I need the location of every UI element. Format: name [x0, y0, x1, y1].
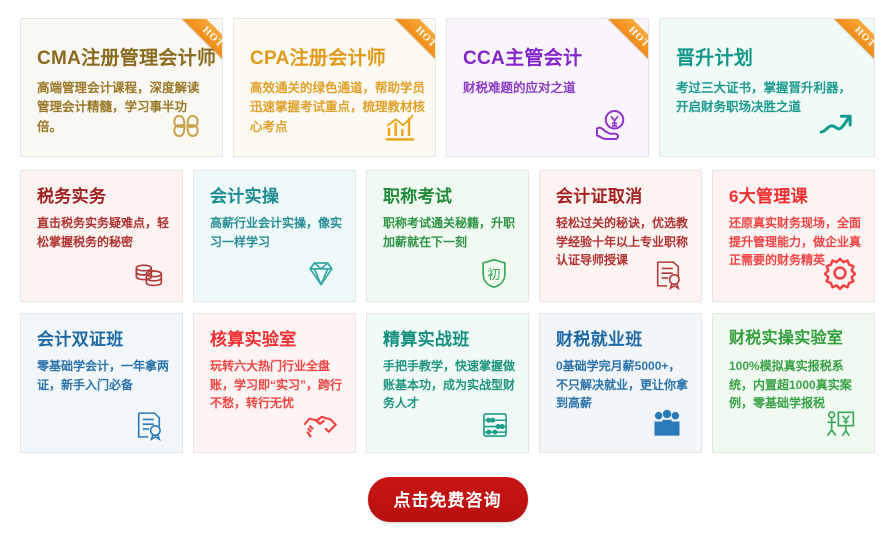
diamond-icon — [295, 247, 341, 293]
course-card-promotion-plan[interactable]: 晋升计划 考过三大证书，掌握晋升利器，开启财务职场决胜之道 HOT — [659, 18, 875, 157]
course-card-certificate-cancel[interactable]: 会计证取消 轻松过关的秘诀，优选教学经验十年以上专业职称认证导师授课 — [539, 170, 702, 302]
hot-badge: HOT — [596, 19, 648, 71]
card-title: 晋升计划 — [676, 49, 753, 68]
svg-text:初: 初 — [487, 267, 500, 282]
handshake-icon — [295, 398, 341, 444]
course-card-cpa[interactable]: CPA注册会计师 高效通关的绿色通道，帮助学员迅速掌握考试重点，梳理教材核心考点… — [233, 18, 436, 157]
certificate-icon — [641, 247, 687, 293]
card-description: 高薪行业会计实操，像实习一样学习 — [210, 214, 342, 251]
card-title: 会计证取消 — [556, 188, 643, 205]
card-title: CMA注册管理会计师 — [37, 49, 216, 68]
course-card-cma[interactable]: CMA注册管理会计师 高端管理会计课程，深度解读管理会计精髓，学习事半功倍。 H… — [20, 18, 223, 157]
card-title: 核算实验室 — [210, 331, 297, 348]
clover-icon — [154, 94, 206, 146]
abacus-icon — [468, 398, 514, 444]
course-card-accounting-lab[interactable]: 核算实验室 玩转六大热门行业全盘账，学习即“实习”，跨行不愁，转行无忧 — [193, 313, 356, 453]
card-title: 会计实操 — [210, 188, 279, 205]
board-yuan-icon — [814, 398, 860, 444]
coins-icon — [122, 247, 168, 293]
card-title: 职称考试 — [383, 188, 452, 205]
course-card-accounting-practice[interactable]: 会计实操 高薪行业会计实操，像实习一样学习 — [193, 170, 356, 302]
hot-badge-label: HOT — [605, 19, 648, 71]
hot-badge: HOT — [822, 19, 874, 71]
hot-badge-label: HOT — [831, 19, 874, 71]
bar-chart-icon — [367, 94, 419, 146]
people-icon — [641, 398, 687, 444]
course-card-tax-practice-lab[interactable]: 财税实操实验室 100%模拟真实报税系统，内置超1000真实案例，零基础学报税 — [712, 313, 875, 453]
course-card-six-management[interactable]: 6大管理课 还原真实财务现场，全面提升管理能力，做企业真正需要的财务精英 — [712, 170, 875, 302]
card-title: 会计双证班 — [37, 331, 124, 348]
course-card-cca[interactable]: CCA主管会计 财税难题的应对之道 HOT — [446, 18, 649, 157]
card-title: 财税就业班 — [556, 331, 643, 348]
card-description: 职称考试通关秘籍，升职加薪就在下一刻 — [383, 214, 515, 251]
hand-yuan-icon — [580, 94, 632, 146]
card-title: 财税实操实验室 — [729, 331, 843, 347]
gear-icon — [814, 247, 860, 293]
course-card-title-exam[interactable]: 职称考试 职称考试通关秘籍，升职加薪就在下一刻 初 — [366, 170, 529, 302]
certificate-icon — [122, 398, 168, 444]
card-title: 6大管理课 — [729, 188, 808, 205]
shield-chu-icon: 初 — [468, 247, 514, 293]
card-title: 精算实战班 — [383, 331, 470, 348]
free-consult-button[interactable]: 点击免费咨询 — [368, 477, 528, 522]
course-card-actuarial-practice[interactable]: 精算实战班 手把手教学，快速掌握做账基本功，成为实战型财务人才 — [366, 313, 529, 453]
card-description: 直击税务实务疑难点，轻松掌握税务的秘密 — [37, 214, 169, 251]
course-card-tax-employment[interactable]: 财税就业班 0基础学完月薪5000+，不只解决就业，更让你拿到高薪 — [539, 313, 702, 453]
hot-badge-label: HOT — [392, 19, 435, 71]
course-card-tax-practice[interactable]: 税务实务 直击税务实务疑难点，轻松掌握税务的秘密 — [20, 170, 183, 302]
card-title: CCA主管会计 — [463, 49, 582, 68]
hot-badge: HOT — [383, 19, 435, 71]
card-description: 零基础学会计，一年拿两证，新手入门必备 — [37, 357, 169, 394]
card-title: CPA注册会计师 — [250, 49, 386, 68]
course-grid-page: CMA注册管理会计师 高端管理会计课程，深度解读管理会计精髓，学习事半功倍。 H… — [0, 0, 895, 534]
card-title: 税务实务 — [37, 188, 106, 205]
course-card-double-certificate[interactable]: 会计双证班 零基础学会计，一年拿两证，新手入门必备 — [20, 313, 183, 453]
trend-up-icon — [806, 94, 858, 146]
